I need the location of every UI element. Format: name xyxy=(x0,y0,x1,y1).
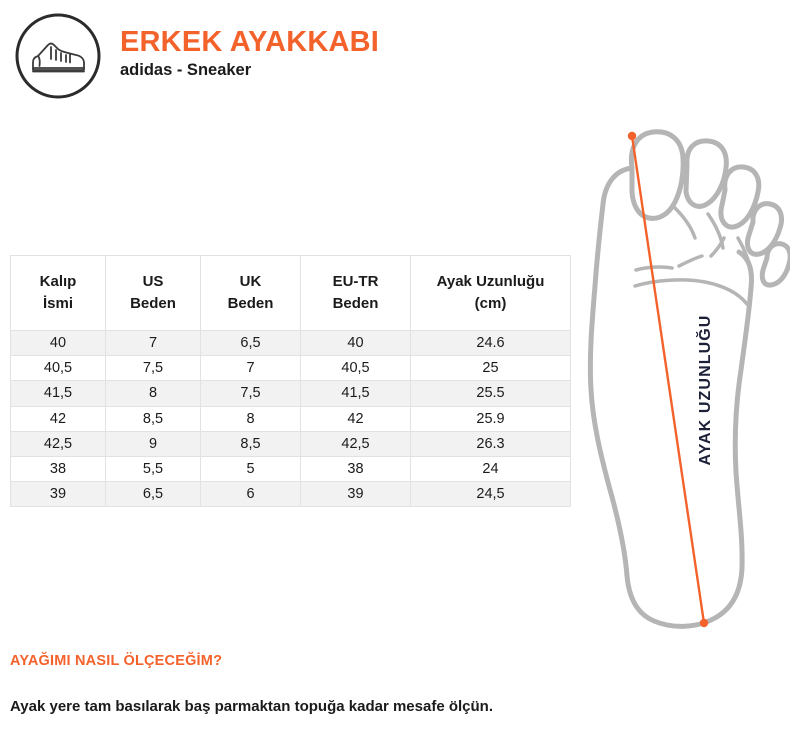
cell-eu-tr-beden: 39 xyxy=(301,482,411,507)
cell-kalip-ismi: 40 xyxy=(11,331,106,356)
table-row: 42 8,5 8 42 25.9 xyxy=(11,406,571,431)
cell-ayak-uzunlugu: 24.6 xyxy=(411,331,571,356)
column-header-line1: US xyxy=(109,271,197,293)
table-row: 40,5 7,5 7 40,5 25 xyxy=(11,356,571,381)
column-header-eu-tr-beden: EU-TR Beden xyxy=(301,256,411,331)
cell-eu-tr-beden: 41,5 xyxy=(301,381,411,406)
cell-kalip-ismi: 39 xyxy=(11,482,106,507)
page-title: ERKEK AYAKKABI xyxy=(120,27,379,59)
table-row: 38 5,5 5 38 24 xyxy=(11,456,571,481)
cell-uk-beden: 7 xyxy=(201,356,301,381)
cell-uk-beden: 6 xyxy=(201,482,301,507)
column-header-us-beden: US Beden xyxy=(106,256,201,331)
column-header-line1: Kalıp xyxy=(14,271,102,293)
cell-uk-beden: 8 xyxy=(201,406,301,431)
cell-us-beden: 5,5 xyxy=(106,456,201,481)
cell-uk-beden: 7,5 xyxy=(201,381,301,406)
cell-ayak-uzunlugu: 24,5 xyxy=(411,482,571,507)
table-row: 40 7 6,5 40 24.6 xyxy=(11,331,571,356)
cell-eu-tr-beden: 42 xyxy=(301,406,411,431)
cell-ayak-uzunlugu: 26.3 xyxy=(411,431,571,456)
column-header-line2: Beden xyxy=(109,293,197,315)
cell-ayak-uzunlugu: 25.5 xyxy=(411,381,571,406)
table-row: 42,5 9 8,5 42,5 26.3 xyxy=(11,431,571,456)
page-subtitle: adidas - Sneaker xyxy=(120,61,379,81)
page-header: ERKEK AYAKKABI adidas - Sneaker xyxy=(14,12,379,100)
cell-eu-tr-beden: 42,5 xyxy=(301,431,411,456)
sneaker-icon xyxy=(14,12,102,100)
cell-ayak-uzunlugu: 25 xyxy=(411,356,571,381)
cell-kalip-ismi: 42,5 xyxy=(11,431,106,456)
cell-us-beden: 7 xyxy=(106,331,201,356)
table-header: Kalıp İsmi US Beden UK Beden EU-TR Beden… xyxy=(11,256,571,331)
foot-length-label: AYAK UZUNLUĞU xyxy=(697,315,715,466)
column-header-uk-beden: UK Beden xyxy=(201,256,301,331)
cell-us-beden: 8,5 xyxy=(106,406,201,431)
column-header-line2: (cm) xyxy=(414,293,567,315)
cell-kalip-ismi: 42 xyxy=(11,406,106,431)
size-chart-table: Kalıp İsmi US Beden UK Beden EU-TR Beden… xyxy=(10,255,571,507)
cell-uk-beden: 5 xyxy=(201,456,301,481)
column-header-kalip-ismi: Kalıp İsmi xyxy=(11,256,106,331)
cell-us-beden: 7,5 xyxy=(106,356,201,381)
column-header-line1: Ayak Uzunluğu xyxy=(414,271,567,293)
cell-eu-tr-beden: 38 xyxy=(301,456,411,481)
cell-kalip-ismi: 41,5 xyxy=(11,381,106,406)
table-row: 41,5 8 7,5 41,5 25.5 xyxy=(11,381,571,406)
column-header-line1: UK xyxy=(204,271,297,293)
table-header-row: Kalıp İsmi US Beden UK Beden EU-TR Beden… xyxy=(11,256,571,331)
column-header-line2: İsmi xyxy=(14,293,102,315)
column-header-line2: Beden xyxy=(204,293,297,315)
cell-uk-beden: 6,5 xyxy=(201,331,301,356)
column-header-line2: Beden xyxy=(304,293,407,315)
cell-uk-beden: 8,5 xyxy=(201,431,301,456)
cell-eu-tr-beden: 40,5 xyxy=(301,356,411,381)
column-header-line1: EU-TR xyxy=(304,271,407,293)
cell-eu-tr-beden: 40 xyxy=(301,331,411,356)
cell-us-beden: 6,5 xyxy=(106,482,201,507)
cell-ayak-uzunlugu: 24 xyxy=(411,456,571,481)
table-row: 39 6,5 6 39 24,5 xyxy=(11,482,571,507)
header-text-block: ERKEK AYAKKABI adidas - Sneaker xyxy=(120,27,379,85)
cell-kalip-ismi: 40,5 xyxy=(11,356,106,381)
table-body: 40 7 6,5 40 24.6 40,5 7,5 7 40,5 25 41,5… xyxy=(11,331,571,507)
how-to-measure-note: Ayak yere tam basılarak baş parmaktan to… xyxy=(10,698,493,715)
how-to-measure-heading: AYAĞIMI NASIL ÖLÇECEĞİM? xyxy=(10,653,222,669)
cell-kalip-ismi: 38 xyxy=(11,456,106,481)
cell-ayak-uzunlugu: 25.9 xyxy=(411,406,571,431)
cell-us-beden: 9 xyxy=(106,431,201,456)
cell-us-beden: 8 xyxy=(106,381,201,406)
column-header-ayak-uzunlugu: Ayak Uzunluğu (cm) xyxy=(411,256,571,331)
foot-sole-diagram xyxy=(575,118,790,643)
